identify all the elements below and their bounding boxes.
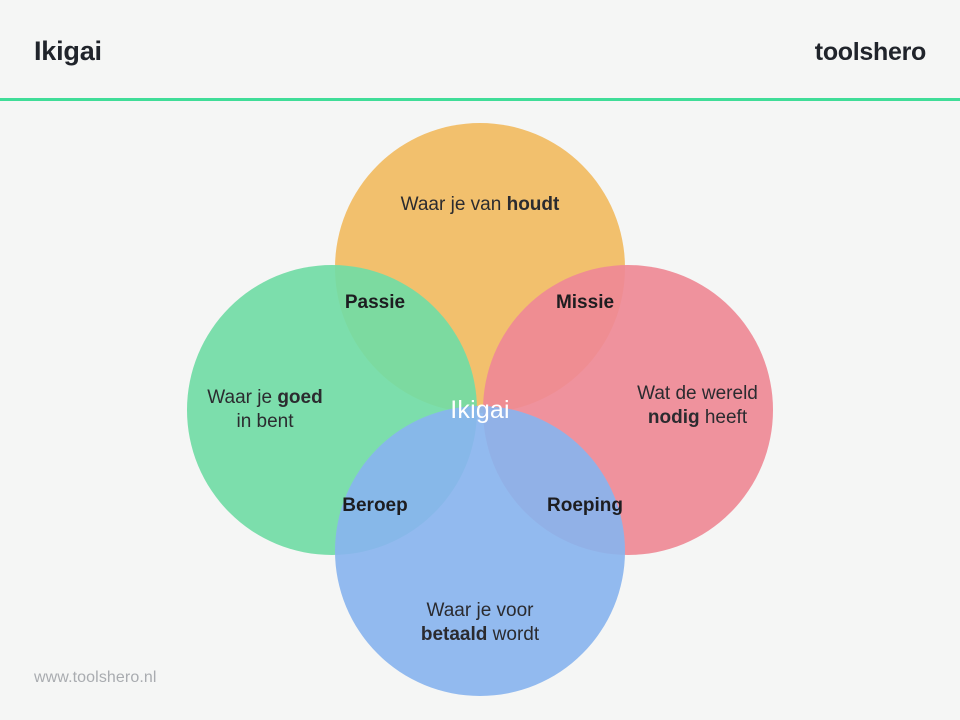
label-world-suffix: heeft: [700, 407, 748, 428]
label-good-suffix: in bent: [236, 411, 293, 432]
page-title: Ikigai: [34, 36, 102, 67]
page-header: Ikigai toolshero: [0, 0, 960, 99]
brand-logo: toolshero: [815, 38, 926, 67]
footer-url[interactable]: www.toolshero.nl: [34, 669, 157, 687]
label-paid-suffix: wordt: [487, 624, 539, 645]
label-world: Wat de wereld nodig heeft: [600, 382, 795, 431]
label-paid-prefix: Waar je voor: [427, 600, 534, 621]
label-world-prefix: Wat de wereld: [637, 383, 758, 404]
label-vocation: Beroep: [305, 494, 445, 518]
label-ikigai-center: Ikigai: [400, 394, 560, 426]
label-mission: Missie: [515, 291, 655, 315]
label-profession: Roeping: [515, 494, 655, 518]
label-love: Waar je van houdt: [340, 193, 620, 217]
label-world-bold: nodig: [648, 407, 700, 428]
circle-paid[interactable]: [335, 406, 625, 696]
label-love-prefix: Waar je van: [401, 194, 507, 215]
label-paid: Waar je voor betaald wordt: [370, 599, 590, 648]
label-passion: Passie: [305, 291, 445, 315]
label-love-bold: houdt: [507, 194, 560, 215]
label-good: Waar je goed in bent: [170, 386, 360, 435]
label-good-prefix: Waar je: [207, 387, 277, 408]
label-paid-bold: betaald: [421, 624, 488, 645]
label-good-bold: goed: [277, 387, 322, 408]
